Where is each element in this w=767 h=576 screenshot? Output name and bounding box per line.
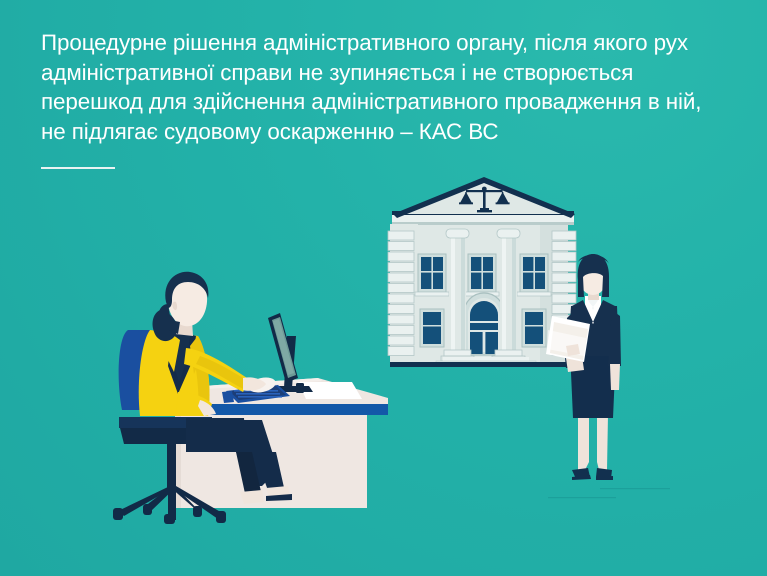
main-entrance-door: [464, 293, 504, 355]
pediment: [393, 177, 575, 218]
quoins-left: [388, 224, 418, 364]
slide-canvas: Процедурне рішення адміністративного орг…: [0, 0, 767, 576]
illustration: [0, 0, 767, 576]
desk-accessory: [296, 383, 304, 393]
windows-upper: [415, 254, 551, 296]
